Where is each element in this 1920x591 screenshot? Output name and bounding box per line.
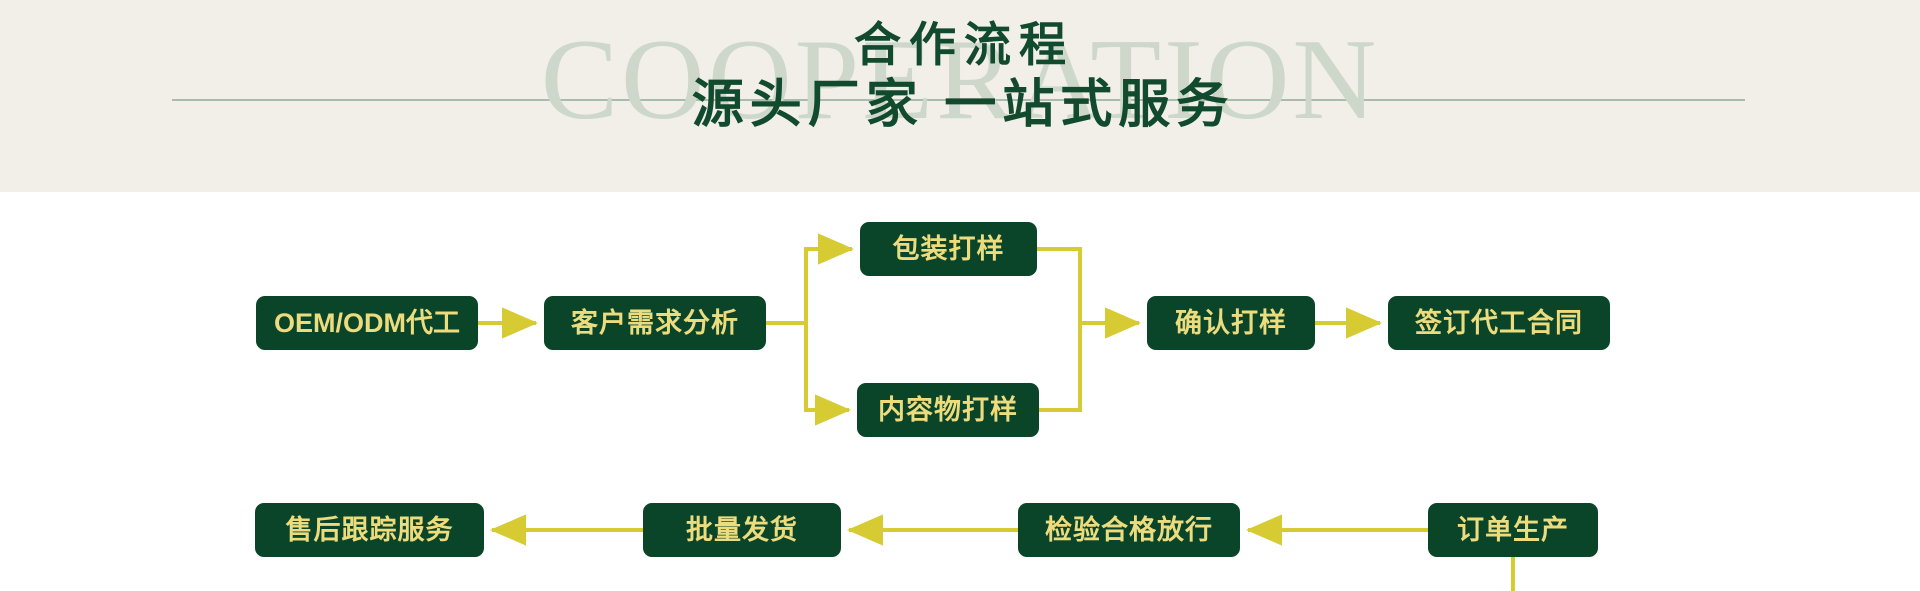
page-title: 合作流程 [0,0,1920,72]
flow-node-confirm-sample[interactable]: 确认打样 [1147,296,1315,350]
flow-node-after-sales[interactable]: 售后跟踪服务 [255,503,484,557]
flow-node-demand[interactable]: 客户需求分析 [544,296,766,350]
cooperation-flowchart: OEM/ODM代工 客户需求分析 包装打样 内容物打样 确认打样 签订代工合同 … [0,192,1920,591]
edge-demand-split-up [766,249,852,323]
edge-content-merge [1039,323,1080,410]
header-title-group: 合作流程 源头厂家 一站式服务 [0,0,1920,136]
edge-demand-split-down [806,323,849,410]
page-header: COOPERATION 合作流程 源头厂家 一站式服务 [0,0,1920,192]
page-subtitle: 源头厂家 一站式服务 [0,72,1920,136]
edge-pkg-merge [1037,249,1139,323]
flow-node-content-sample[interactable]: 内容物打样 [857,383,1039,437]
flow-node-sign-contract[interactable]: 签订代工合同 [1388,296,1610,350]
flow-node-packaging-sample[interactable]: 包装打样 [860,222,1037,276]
flow-node-inspection-pass[interactable]: 检验合格放行 [1018,503,1240,557]
flow-node-order-production[interactable]: 订单生产 [1428,503,1598,557]
flow-node-bulk-shipping[interactable]: 批量发货 [643,503,841,557]
flow-node-oem[interactable]: OEM/ODM代工 [256,296,478,350]
